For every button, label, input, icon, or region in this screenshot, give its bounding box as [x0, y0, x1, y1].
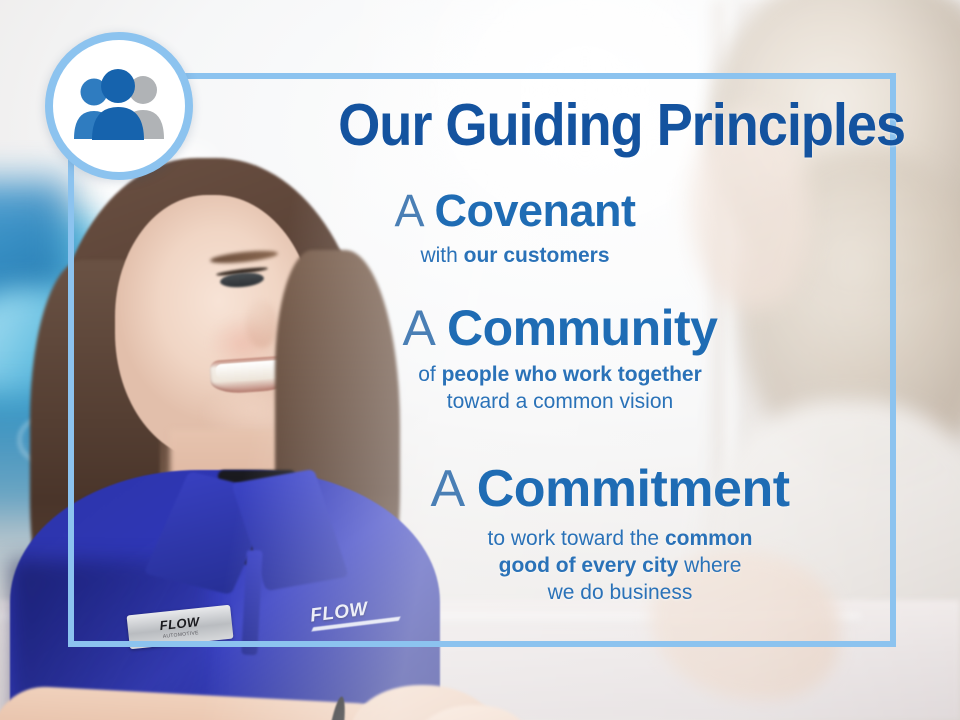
principle-commitment-subtext: to work toward the commongood of every c… [0, 526, 960, 607]
principle-covenant: A Covenant with our customers [0, 188, 960, 270]
principle-covenant-word: Covenant [435, 185, 636, 236]
principle-covenant-heading: A Covenant [0, 188, 960, 235]
principle-commitment-word: Commitment [477, 460, 790, 518]
principle-covenant-article: A [394, 185, 434, 236]
principle-commitment-heading: A Commitment [0, 462, 960, 516]
principle-community-subtext: of people who work togethertoward a comm… [0, 362, 960, 416]
principle-community-article: A [403, 300, 447, 356]
principle-commitment: A Commitment to work toward the commongo… [0, 462, 960, 607]
principle-covenant-subtext: with our customers [0, 243, 960, 270]
page-title: Our Guiding Principles [72, 96, 905, 155]
principle-community-word: Community [447, 300, 718, 356]
principle-commitment-article: A [430, 460, 476, 518]
principle-community: A Community of people who work togethert… [0, 302, 960, 416]
text-overlay: Our Guiding Principles A Covenant with o… [0, 0, 960, 720]
guiding-principles-graphic: FLOW AUTOMOTIVE FLOW [0, 0, 960, 720]
principle-community-heading: A Community [0, 302, 960, 354]
